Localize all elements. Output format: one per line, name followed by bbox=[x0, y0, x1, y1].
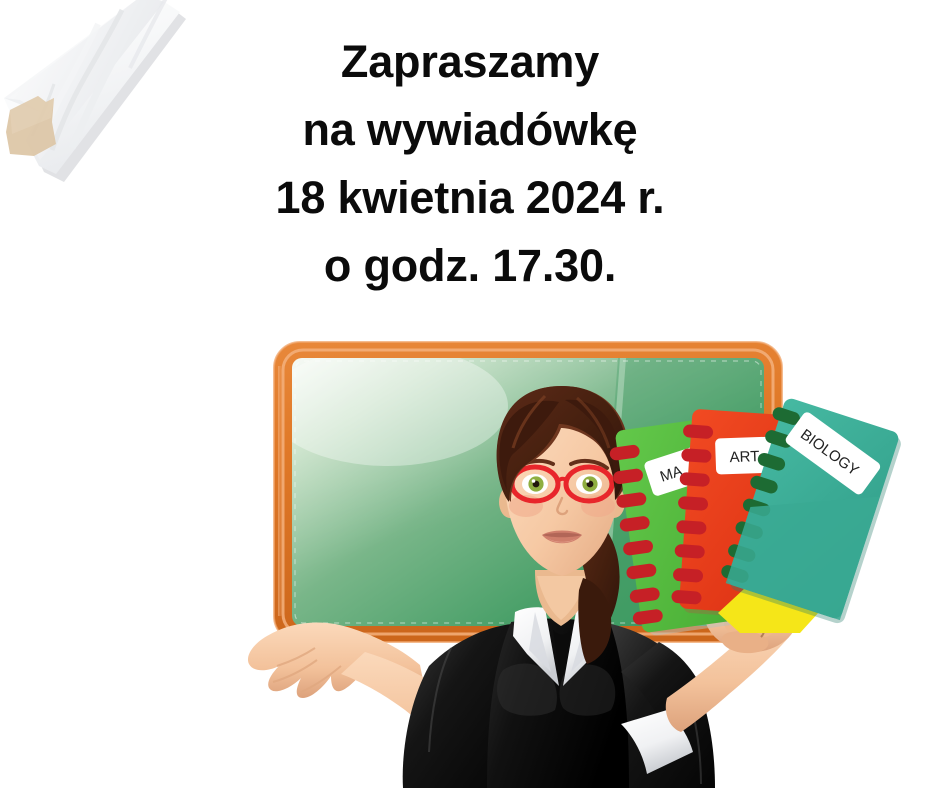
headline-line-1: Zapraszamy bbox=[0, 28, 940, 96]
headline-line-4: o godz. 17.30. bbox=[0, 232, 940, 300]
notebook-label-art: ART bbox=[729, 448, 759, 466]
page-headline: Zapraszamy na wywiadówkę 18 kwietnia 202… bbox=[0, 28, 940, 300]
notebook-stack: MA ART bbox=[600, 405, 890, 695]
headline-line-3: 18 kwietnia 2024 r. bbox=[0, 164, 940, 232]
headline-line-2: na wywiadówkę bbox=[0, 96, 940, 164]
poster-canvas: MA ART bbox=[0, 0, 940, 788]
